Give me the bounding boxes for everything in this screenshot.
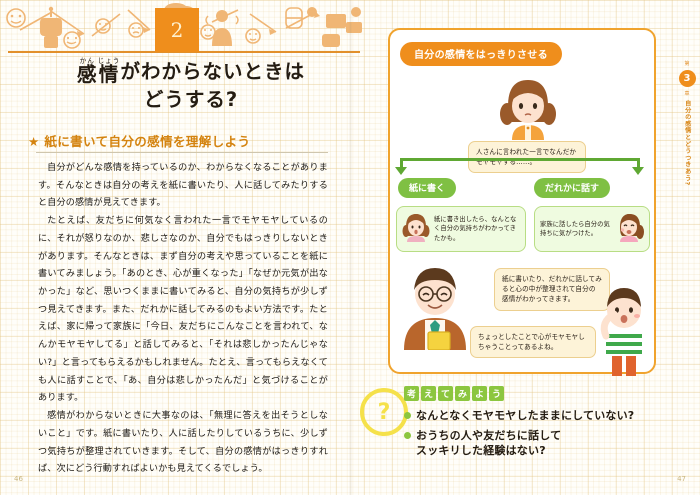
section-number-badge: 2 (155, 8, 199, 52)
girl-character-illustration (494, 72, 562, 146)
page-title-line1: かん感じょう情がわからないときは (26, 58, 356, 86)
chapter-index-tab[interactable]: 第 3 章 自分の感情とどうつきあう? (674, 60, 700, 210)
subheading-rule (36, 152, 328, 153)
branch-card-write-text: 紙に書き出したら、なんとなく自分の気持ちがわかってきたかも。 (434, 215, 520, 243)
body-text-column: 自分がどんな感情を持っているのか、わからなくなることがあります。そんなときは自分… (38, 160, 328, 479)
teacher-speech-bubble: 紙に書いたり、だれかに話してみると心の中が整理されて自分の感情がわかってきます。 (494, 268, 610, 311)
page-title: かん感じょう情がわからないときは どうする? (26, 58, 356, 113)
girl-talking-avatar (616, 211, 644, 247)
branch-label-write: 紙に書く (398, 178, 456, 198)
think-label-char-3: み (455, 386, 470, 401)
think-label-char-4: よ (472, 386, 487, 401)
page-title-line2: どうする? (26, 86, 356, 114)
ruby-kan: かん感 (77, 58, 98, 85)
think-label-char-5: う (489, 386, 504, 401)
think-label-char-1: え (421, 386, 436, 401)
list-item: なんとなくモヤモヤしたままにしていない? (404, 408, 672, 424)
section-subheading: ★ 紙に書いて自分の感情を理解しよう (28, 131, 358, 150)
book-spread: 2 かん感じょう情がわからないときは どうする? ★ 紙に書いて自分の感情を理解… (0, 0, 700, 495)
ruby-jou: じょう情 (98, 58, 121, 85)
boy-character-illustration (596, 286, 652, 380)
girl-writing-avatar (402, 211, 430, 247)
think-label-char-2: て (438, 386, 453, 401)
think-question-list: なんとなくモヤモヤしたままにしていない? おうちの人や友だちに話して スッキリし… (404, 408, 672, 463)
branch-card-write: 紙に書き出したら、なんとなく自分の気持ちがわかってきたかも。 (396, 206, 526, 252)
teacher-character-illustration (398, 262, 472, 354)
boy-speech-bubble: ちょっとしたことで心がモヤモヤしちゃうことってあるよね。 (470, 326, 596, 358)
think-question-2: おうちの人や友だちに話して スッキリした経験はない? (416, 428, 561, 459)
tab-chapter-suffix: 章 (684, 90, 689, 97)
arrow-down-left (395, 167, 407, 175)
body-paragraph-2: たとえば、友だちに何気なく言われた一言でモヤモヤしているのに、それが怒りなのか、… (38, 213, 328, 408)
body-paragraph-3: 感情がわからないときに大事なのは、「無理に答えを出そうとしないこと」です。紙に書… (38, 408, 328, 479)
page-number-right: 47 (677, 475, 686, 483)
diagram-panel-title: 自分の感情をはっきりさせる (400, 42, 562, 66)
tab-chapter-number: 3 (679, 70, 696, 87)
list-item: おうちの人や友だちに話して スッキリした経験はない? (404, 428, 672, 459)
think-section-label: 考 え て み よ う (404, 386, 504, 401)
arrow-down-right (632, 167, 644, 175)
tab-chapter-title: 自分の感情とどうつきあう? (683, 100, 690, 186)
branch-label-talk: だれかに話す (534, 178, 610, 198)
branch-card-talk-text: 家族に話したら自分の気持ちに気がつけた。 (540, 220, 612, 239)
question-mark-icon: ? (360, 388, 408, 436)
tab-chapter-word: 第 (684, 60, 689, 67)
connector-horizontal-top (400, 158, 640, 161)
page-number-left: 46 (14, 475, 23, 483)
think-question-1: なんとなくモヤモヤしたままにしていない? (416, 408, 634, 424)
think-label-char-0: 考 (404, 386, 419, 401)
bullet-dot-icon (404, 432, 411, 439)
book-spine (349, 0, 352, 495)
branch-card-talk: 家族に話したら自分の気持ちに気がつけた。 (534, 206, 650, 252)
body-paragraph-1: 自分がどんな感情を持っているのか、わからなくなることがあります。そんなときは自分… (38, 160, 328, 213)
bullet-dot-icon (404, 412, 411, 419)
